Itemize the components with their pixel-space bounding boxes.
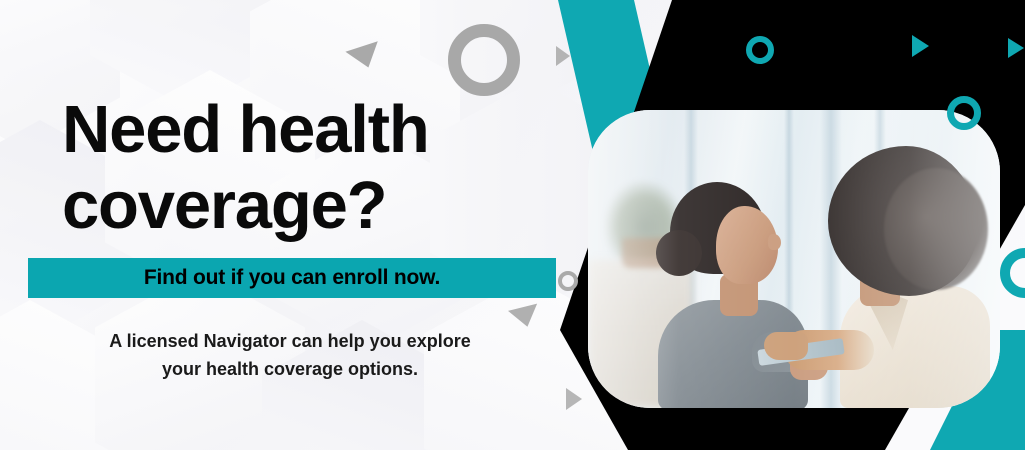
health-coverage-banner: Need health coverage? Find out if you ca… xyxy=(0,0,1025,450)
page-title: Need health coverage? xyxy=(62,92,562,244)
cta-banner-bar[interactable]: Find out if you can enroll now. xyxy=(28,258,556,298)
gray-ring-small-icon xyxy=(558,271,578,291)
teal-ring-mid-icon xyxy=(947,96,981,130)
photo-panel xyxy=(588,110,1000,408)
gray-ring-large-icon xyxy=(448,24,520,96)
person-right xyxy=(806,146,996,408)
cta-banner-text: Find out if you can enroll now. xyxy=(144,266,440,290)
subcopy-line-2: your health coverage options. xyxy=(62,355,518,383)
subcopy-line-1: A licensed Navigator can help you explor… xyxy=(62,327,518,355)
teal-triangle-right-edge-icon xyxy=(1008,38,1024,58)
teal-triangle-right-icon xyxy=(912,35,929,57)
subcopy-text: A licensed Navigator can help you explor… xyxy=(62,327,518,383)
gray-triangle-right-top-icon xyxy=(556,46,570,66)
teal-ring-top-icon xyxy=(746,36,774,64)
person-left xyxy=(640,182,815,408)
headline-line-1: Need health xyxy=(62,92,562,168)
gray-triangle-right-bottom-icon xyxy=(566,388,582,410)
headline-line-2: coverage? xyxy=(62,168,562,244)
